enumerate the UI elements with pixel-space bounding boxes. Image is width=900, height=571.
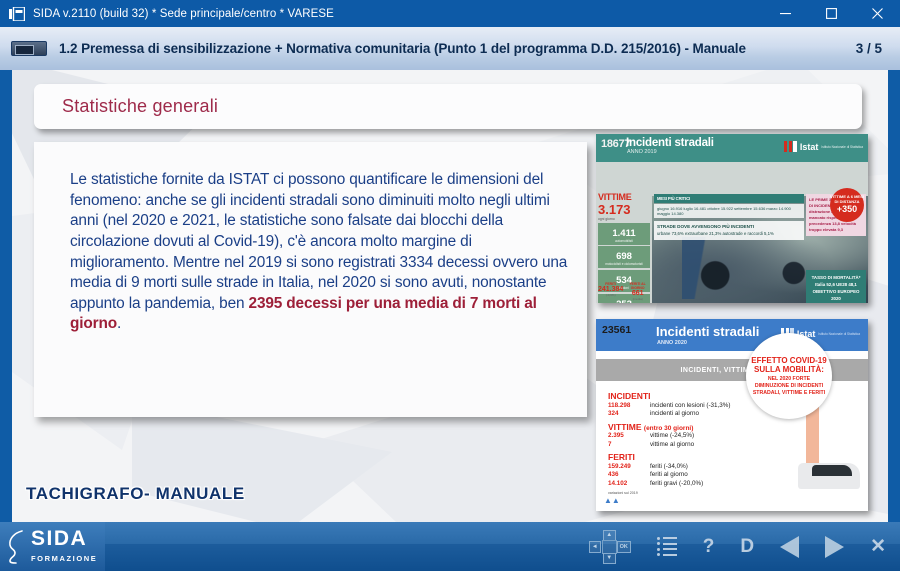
infographic-top-subtitle: ANNO 2019 bbox=[627, 149, 657, 155]
covid-badge-detail: NEL 2020 FORTE DIMINUZIONE DI INCIDENTI … bbox=[750, 376, 828, 396]
minimize-button[interactable] bbox=[762, 0, 808, 27]
feriti-daily: FERITI AL GIORNO 661 (media) bbox=[625, 282, 650, 301]
feriti-daily-label: FERITI AL GIORNO bbox=[625, 282, 650, 290]
stat-box-caption: automobilisti bbox=[598, 240, 650, 243]
sida-logo-text: SIDA FORMAZIONE bbox=[31, 528, 105, 565]
infographic-top-footer: FERITI 241.384 (-0,6%) FERITI AL GIORNO … bbox=[598, 282, 650, 301]
istat-tagline: Istituto Nazionale di Statistica bbox=[821, 145, 863, 149]
lesson-header-bar: 1.2 Premessa di sensibilizzazione + Norm… bbox=[0, 27, 900, 70]
vittime-label: VITTIME bbox=[598, 192, 650, 202]
stat-group-heading: FERITI bbox=[608, 452, 774, 462]
title-bar: SIDA v.2110 (build 32) * Sede principale… bbox=[0, 0, 900, 27]
stat-row: 324 incidenti al giorno bbox=[608, 410, 774, 418]
stat-row: 159.249 feriti (-34,0%) bbox=[608, 463, 774, 471]
infographic-bottom-title: Incidenti stradali bbox=[656, 324, 759, 339]
slide-footer-label: TACHIGRAFO- MANUALE bbox=[26, 484, 245, 504]
istat-name: Istat bbox=[800, 142, 819, 152]
strade-title: STRADE DOVE AVVENGONO PIÙ INCIDENTI bbox=[657, 224, 754, 229]
infographic-top-body: VITTIME 3.173 ogni giorno 1.411 automobi… bbox=[596, 162, 868, 303]
app-icon bbox=[9, 7, 25, 21]
body-text-end: . bbox=[117, 315, 121, 332]
stat-row-number: 324 bbox=[608, 410, 650, 418]
stat-row-number: 2.395 bbox=[608, 432, 650, 440]
dpad-navigation-control[interactable]: ◄ ▲ ▼ OK bbox=[589, 530, 631, 564]
infographic-card-2020[interactable]: 23561 Incidenti stradali ANNO 2020 Istat… bbox=[596, 319, 868, 511]
feriti-daily-value: 661 bbox=[625, 290, 650, 297]
stat-row-number: 118.298 bbox=[608, 402, 650, 410]
mesi-critici-values: giugno 16.916 luglio 16.481 ottobre 15.9… bbox=[654, 204, 804, 218]
stat-row: 118.298 incidenti con lesioni (-31,3%) bbox=[608, 402, 774, 410]
istat-logo: Istat Istituto Nazionale di Statistica bbox=[784, 141, 863, 152]
stat-row-label: feriti (-34,0%) bbox=[650, 463, 688, 471]
lesson-title: 1.2 Premessa di sensibilizzazione + Norm… bbox=[59, 41, 746, 56]
car-shape bbox=[798, 463, 860, 489]
strade-rows: urbane 73,6% extraurbane 21,3% autostrad… bbox=[657, 231, 774, 236]
infographic-bottom-stats: INCIDENTI 118.298 incidenti con lesioni … bbox=[608, 387, 774, 495]
vittime-value: 3.173 bbox=[598, 202, 650, 217]
stat-group-heading: VITTIME (entro 30 giorni) bbox=[608, 422, 774, 432]
stat-box-value: 698 bbox=[616, 251, 632, 262]
close-x-icon: ✕ bbox=[870, 537, 886, 556]
dpad-icon[interactable]: ◄ ▲ ▼ OK bbox=[589, 530, 631, 564]
window-controls bbox=[762, 0, 900, 27]
obiettivo-title: OBIETTIVO EUROPEO 2020 bbox=[813, 289, 860, 301]
triangle-right-icon bbox=[825, 536, 844, 558]
sida-logo: SIDA FORMAZIONE bbox=[0, 522, 105, 571]
window-title: SIDA v.2110 (build 32) * Sede principale… bbox=[33, 8, 334, 20]
stat-group-note: (entro 30 giorni) bbox=[644, 425, 693, 432]
stat-row: 7 vittime al giorno bbox=[608, 441, 774, 449]
footer-toolbar: ◄ ▲ ▼ OK ? D bbox=[589, 522, 886, 571]
next-slide-button[interactable] bbox=[825, 536, 844, 558]
istat-tagline: Istituto Nazionale di Statistica bbox=[818, 332, 860, 336]
stat-row: 2.395 vittime (-24,5%) bbox=[608, 432, 774, 440]
infographic-bottom-badge: 23561 bbox=[602, 324, 631, 336]
stat-row-label: feriti gravi (-20,0%) bbox=[650, 480, 703, 488]
infographic-bottom-header: 23561 Incidenti stradali ANNO 2020 Istat… bbox=[596, 319, 868, 351]
application-window: SIDA v.2110 (build 32) * Sede principale… bbox=[0, 0, 900, 571]
istat-mark-icon: ▲▲ bbox=[604, 496, 620, 505]
vittime-bubble: VITTIME A 6 MESI DI DISTANZA +350 bbox=[830, 188, 864, 222]
stat-note: variazioni sul 2019 bbox=[608, 491, 774, 495]
vittime-caption: ogni giorno bbox=[598, 217, 650, 221]
stat-row-label: vittime (-24,5%) bbox=[650, 432, 694, 440]
feriti-total: FERITI 241.384 (-0,6%) bbox=[598, 282, 623, 301]
infographic-bottom-subtitle: ANNO 2020 bbox=[657, 340, 687, 346]
page-indicator: 3 / 5 bbox=[856, 41, 882, 56]
slide-stage: Statistiche generali Le statistiche forn… bbox=[12, 70, 888, 522]
feriti-daily-caption: (media) bbox=[625, 297, 650, 301]
covid-effect-badge: EFFETTO COVID-19 SULLA MOBILITÀ: NEL 202… bbox=[746, 333, 832, 419]
dpad-down-key[interactable]: ▼ bbox=[603, 553, 616, 564]
dpad-center bbox=[602, 540, 617, 554]
stat-group-title: FERITI bbox=[608, 452, 635, 462]
dpad-left-key[interactable]: ◄ bbox=[589, 541, 601, 553]
covid-badge-headline: EFFETTO COVID-19 SULLA MOBILITÀ: bbox=[750, 356, 828, 374]
stat-box-caption: motociclisti e ciclomotoristi bbox=[598, 263, 650, 266]
strade-panel: STRADE DOVE AVVENGONO PIÙ INCIDENTI urba… bbox=[654, 221, 804, 240]
stat-box: 1.411 automobilisti bbox=[598, 223, 650, 245]
dpad-ok-key[interactable]: OK bbox=[617, 541, 631, 553]
slide-title-box: Statistiche generali bbox=[34, 84, 862, 129]
dictionary-button[interactable]: D bbox=[740, 537, 754, 556]
stat-group-title: INCIDENTI bbox=[608, 391, 651, 401]
stat-row-number: 7 bbox=[608, 441, 650, 449]
infographic-top-title: Incidenti stradali bbox=[626, 137, 714, 149]
stat-row-label: incidenti con lesioni (-31,3%) bbox=[650, 402, 731, 410]
infographic-card-2019[interactable]: 18677 Incidenti stradali ANNO 2019 Istat… bbox=[596, 134, 868, 303]
stat-box: 698 motociclisti e ciclomotoristi bbox=[598, 246, 650, 268]
letter-d-icon: D bbox=[740, 537, 754, 556]
stat-row-number: 436 bbox=[608, 471, 650, 479]
stat-group-title: VITTIME bbox=[608, 422, 642, 432]
stat-row-number: 14.102 bbox=[608, 480, 650, 488]
previous-slide-button[interactable] bbox=[780, 536, 799, 558]
mesi-critici-title: MESI PIÙ CRITICI bbox=[654, 194, 804, 203]
feriti-value: 241.384 bbox=[598, 286, 623, 293]
index-list-button[interactable] bbox=[657, 537, 677, 557]
slide-content-panel: Le statistiche fornite da ISTAT ci posso… bbox=[34, 142, 587, 417]
vittime-bubble-value: +350 bbox=[837, 204, 857, 216]
maximize-button[interactable] bbox=[808, 0, 854, 27]
stat-row-number: 159.249 bbox=[608, 463, 650, 471]
mortalita-panel: TASSO DI MORTALITÀ* Italia 52,6 UE28 48,… bbox=[806, 270, 866, 303]
tachograph-icon bbox=[11, 41, 47, 56]
feriti-delta: (-0,6%) bbox=[598, 293, 623, 297]
sida-subtitle: FORMAZIONE bbox=[31, 554, 97, 563]
close-button[interactable] bbox=[854, 0, 900, 27]
slide-body-text: Le statistiche fornite da ISTAT ci posso… bbox=[70, 170, 568, 335]
infographic-top-middle-column: MESI PIÙ CRITICI giugno 16.916 luglio 16… bbox=[654, 194, 804, 240]
head-profile-icon bbox=[6, 530, 28, 564]
mortalita-rows: Italia 52,6 UE28 48,1 bbox=[815, 282, 857, 287]
stat-box-value: 1.411 bbox=[612, 228, 635, 239]
help-button[interactable]: ? bbox=[703, 537, 715, 556]
mortalita-title: TASSO DI MORTALITÀ* bbox=[812, 275, 861, 280]
exit-button[interactable]: ✕ bbox=[870, 537, 886, 556]
stat-row-label: feriti al giorno bbox=[650, 471, 688, 479]
infographic-top-header: 18677 Incidenti stradali ANNO 2019 Istat… bbox=[596, 134, 868, 162]
sida-name: SIDA bbox=[31, 527, 87, 550]
stat-row-label: incidenti al giorno bbox=[650, 410, 699, 418]
istat-bars-icon bbox=[784, 141, 797, 152]
vittime-bubble-label: VITTIME A 6 MESI DI DISTANZA bbox=[830, 194, 864, 204]
list-icon bbox=[657, 537, 677, 557]
stat-row: 436 feriti al giorno bbox=[608, 471, 774, 479]
question-mark-icon: ? bbox=[703, 537, 715, 556]
app-footer: SIDA FORMAZIONE ◄ ▲ ▼ OK ? bbox=[0, 522, 900, 571]
stat-row: 14.102 feriti gravi (-20,0%) bbox=[608, 480, 774, 488]
slide-title: Statistiche generali bbox=[62, 96, 218, 117]
body-text-part1: Le statistiche fornite da ISTAT ci posso… bbox=[70, 171, 567, 312]
stat-row-label: vittime al giorno bbox=[650, 441, 694, 449]
triangle-left-icon bbox=[780, 536, 799, 558]
